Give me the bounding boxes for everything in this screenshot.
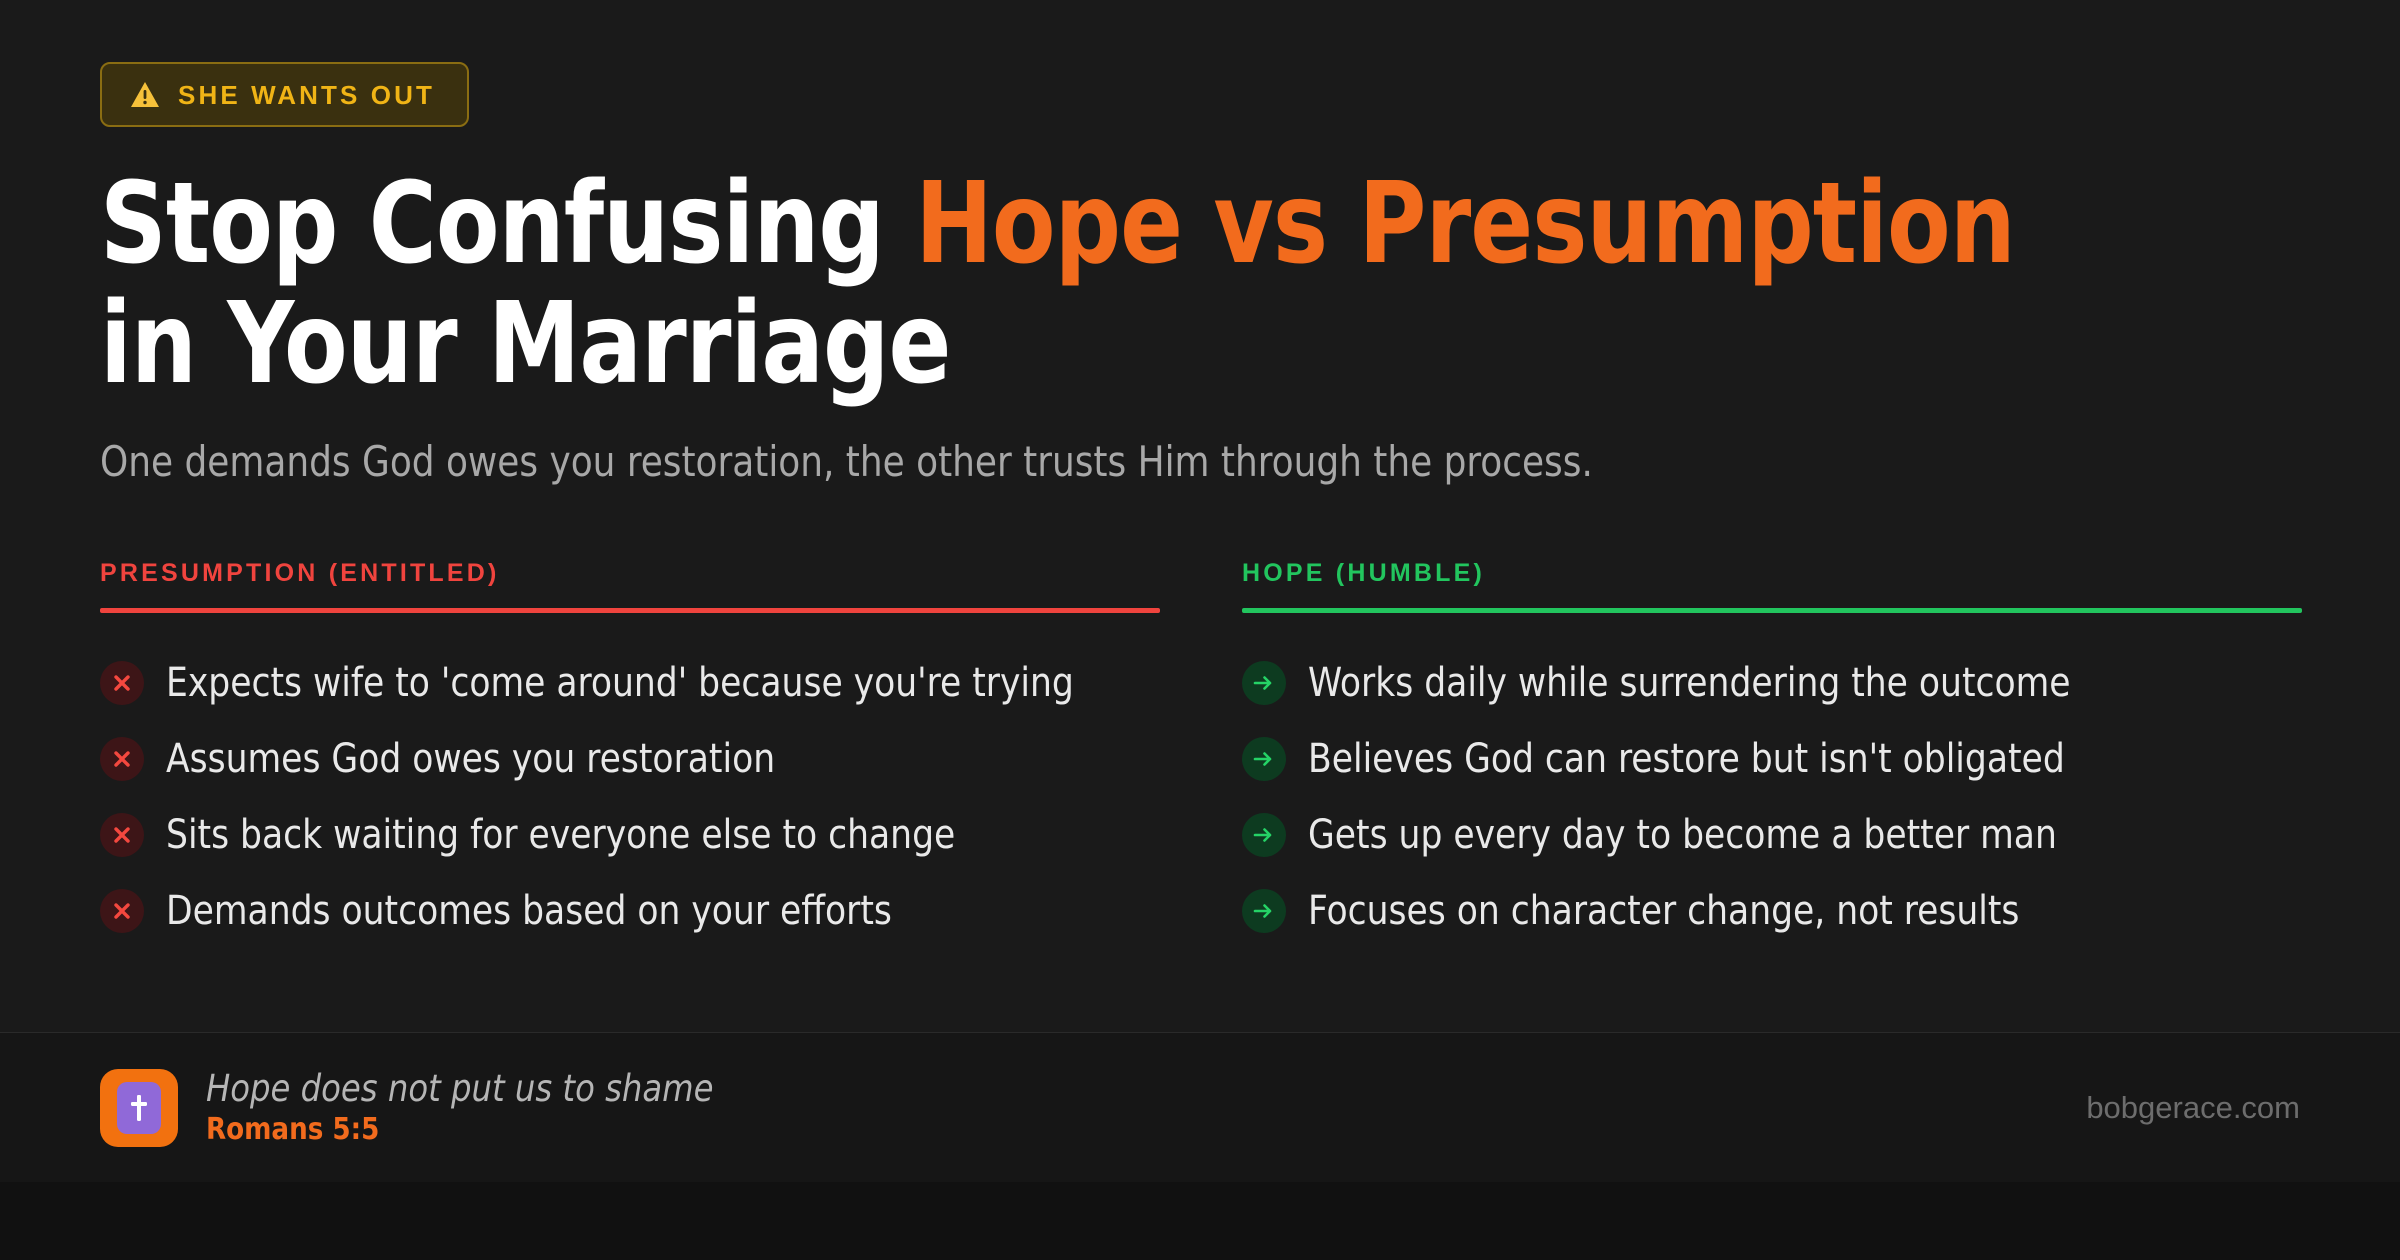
list-item-label: Believes God can restore but isn't oblig… — [1308, 735, 2065, 783]
warning-triangle-icon — [130, 81, 160, 108]
arrow-right-icon — [1242, 661, 1286, 705]
bottom-strip — [0, 1182, 2400, 1260]
list-item-label: Assumes God owes you restoration — [166, 735, 775, 783]
status-badge: SHE WANTS OUT — [100, 62, 469, 127]
page-subtitle: One demands God owes you restoration, th… — [100, 435, 2190, 490]
column-hope-rule — [1242, 608, 2302, 613]
headline-part-1: Stop Confusing — [100, 159, 915, 289]
x-mark-icon — [100, 813, 144, 857]
list-item: Assumes God owes you restoration — [100, 721, 1160, 797]
arrow-right-icon — [1242, 889, 1286, 933]
column-hope-heading: HOPE (HUMBLE) — [1242, 561, 2302, 608]
list-item: Gets up every day to become a better man — [1242, 797, 2302, 873]
column-hope-items: Works daily while surrendering the outco… — [1242, 645, 2302, 949]
list-item-label: Expects wife to 'come around' because yo… — [166, 659, 1074, 707]
verse-block: Hope does not put us to shame Romans 5:5 — [206, 1070, 729, 1145]
x-mark-icon — [100, 889, 144, 933]
column-presumption-rule — [100, 608, 1160, 613]
column-presumption-heading: PRESUMPTION (ENTITLED) — [100, 561, 1160, 608]
footer-verse-group: Hope does not put us to shame Romans 5:5 — [100, 1069, 729, 1147]
verse-text: Hope does not put us to shame — [206, 1070, 713, 1107]
arrow-right-icon — [1242, 737, 1286, 781]
column-presumption-items: Expects wife to 'come around' because yo… — [100, 645, 1160, 949]
list-item: Works daily while surrendering the outco… — [1242, 645, 2302, 721]
footer-bar: Hope does not put us to shame Romans 5:5… — [0, 1032, 2400, 1182]
list-item-label: Works daily while surrendering the outco… — [1308, 659, 2071, 707]
list-item-label: Sits back waiting for everyone else to c… — [166, 811, 955, 859]
list-item: Believes God can restore but isn't oblig… — [1242, 721, 2302, 797]
column-presumption: PRESUMPTION (ENTITLED) Expects wife to '… — [100, 561, 1160, 949]
list-item-label: Demands outcomes based on your efforts — [166, 887, 892, 935]
arrow-right-icon — [1242, 813, 1286, 857]
site-attribution: bobgerace.com — [2086, 1092, 2300, 1123]
headline-part-2: in Your Marriage — [100, 279, 950, 409]
list-item: Focuses on character change, not results — [1242, 873, 2302, 949]
list-item: Expects wife to 'come around' because yo… — [100, 645, 1160, 721]
list-item: Demands outcomes based on your efforts — [100, 873, 1160, 949]
headline-accent: Hope vs Presumption — [915, 159, 2015, 289]
content-area: SHE WANTS OUT Stop Confusing Hope vs Pre… — [0, 0, 2400, 1032]
column-hope: HOPE (HUMBLE) Works daily while surrende… — [1242, 561, 2302, 949]
status-badge-label: SHE WANTS OUT — [178, 82, 435, 108]
list-item-label: Focuses on character change, not results — [1308, 887, 2019, 935]
x-mark-icon — [100, 737, 144, 781]
list-item: Sits back waiting for everyone else to c… — [100, 797, 1160, 873]
page-title: Stop Confusing Hope vs Presumption in Yo… — [100, 165, 2050, 405]
list-item-label: Gets up every day to become a better man — [1308, 811, 2057, 859]
verse-reference: Romans 5:5 — [206, 1115, 713, 1145]
x-mark-icon — [100, 661, 144, 705]
comparison-columns: PRESUMPTION (ENTITLED) Expects wife to '… — [100, 561, 2300, 949]
slide-root: SHE WANTS OUT Stop Confusing Hope vs Pre… — [0, 0, 2400, 1260]
cross-icon — [100, 1069, 178, 1147]
cross-icon-inner — [117, 1082, 161, 1134]
